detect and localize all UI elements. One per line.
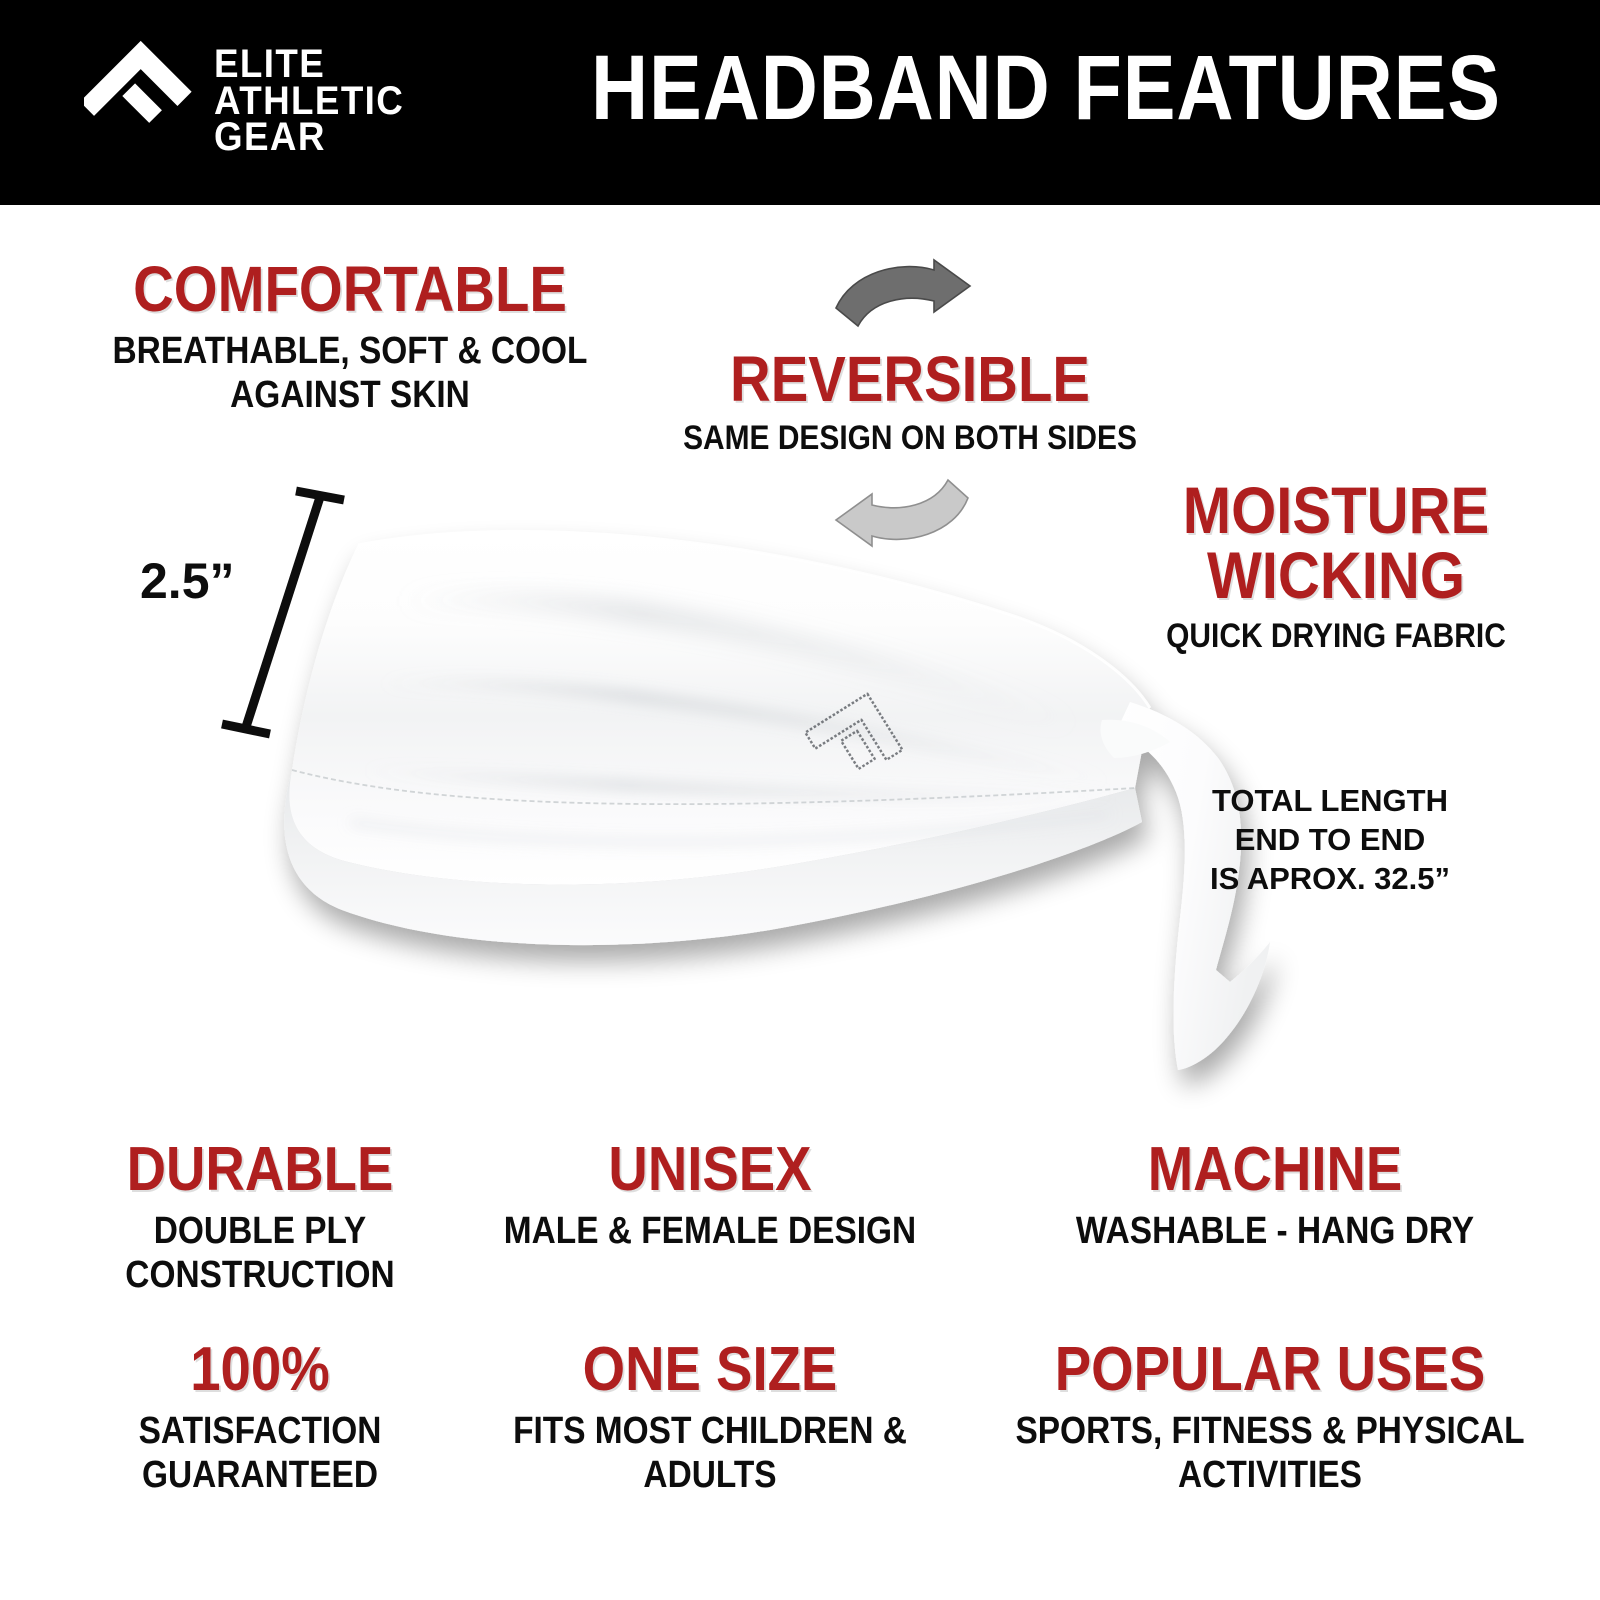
total-length-line-1: TOTAL LENGTH [1185, 782, 1475, 821]
feature-popular-sub-line-2: ACTIVITIES [997, 1453, 1543, 1497]
feature-satisfaction-heading: 100% [66, 1340, 453, 1401]
elite-athletic-gear-diamond-e-logo-icon [84, 36, 196, 166]
feature-satisfaction-sub-line-2: GUARANTEED [66, 1453, 453, 1497]
feature-popular-heading: POPULAR USES [997, 1340, 1543, 1401]
brand-wordmark: ELITE ATHLETIC GEAR [214, 46, 421, 156]
feature-durable-sub-line-1: DOUBLE PLY [66, 1209, 453, 1253]
feature-machine-washable: MACHINE WASHABLE - HANG DRY [980, 1140, 1570, 1253]
feature-comfortable-heading: COMFORTABLE [77, 258, 623, 321]
brand-logo: ELITE ATHLETIC GEAR [84, 36, 421, 166]
feature-machine-subtitle: WASHABLE - HANG DRY [1015, 1209, 1534, 1253]
feature-unisex-sub-line-1: MALE & FEMALE DESIGN [490, 1209, 930, 1253]
feature-satisfaction-subtitle: SATISFACTION GUARANTEED [66, 1409, 453, 1497]
brand-line-2: ATHLETIC [214, 83, 404, 120]
feature-comfortable-sub-line-2: AGAINST SKIN [77, 373, 623, 417]
total-length-line-3: IS APROX. 32.5” [1185, 860, 1475, 899]
feature-durable-sub-line-2: CONSTRUCTION [66, 1253, 453, 1297]
width-dimension-label: 2.5” [140, 552, 235, 610]
feature-unisex-subtitle: MALE & FEMALE DESIGN [490, 1209, 930, 1253]
dimension-line-icon [218, 478, 348, 748]
feature-durable-heading: DURABLE [66, 1140, 453, 1201]
feature-popular-sub-line-1: SPORTS, FITNESS & PHYSICAL [997, 1409, 1543, 1453]
feature-reversible: REVERSIBLE SAME DESIGN ON BOTH SIDES [600, 348, 1220, 458]
infographic-canvas: ELITE ATHLETIC GEAR HEADBAND FEATURES CO… [0, 0, 1600, 1600]
feature-machine-sub-line-1: WASHABLE - HANG DRY [1015, 1209, 1534, 1253]
brand-line-1: ELITE [214, 46, 404, 83]
brand-line-3: GEAR [214, 119, 404, 156]
feature-comfortable-sub-line-1: BREATHABLE, SOFT & COOL [77, 329, 623, 373]
total-length-note: TOTAL LENGTH END TO END IS APROX. 32.5” [1185, 782, 1475, 898]
feature-unisex: UNISEX MALE & FEMALE DESIGN [460, 1140, 960, 1253]
feature-onesize-sub-line-2: ADULTS [490, 1453, 930, 1497]
feature-durable-subtitle: DOUBLE PLY CONSTRUCTION [66, 1209, 453, 1297]
total-length-line-2: END TO END [1185, 821, 1475, 860]
header-bar: ELITE ATHLETIC GEAR HEADBAND FEATURES [0, 0, 1600, 205]
white-tie-back-headband-image [230, 470, 1310, 1110]
feature-popular-subtitle: SPORTS, FITNESS & PHYSICAL ACTIVITIES [997, 1409, 1543, 1497]
feature-satisfaction: 100% SATISFACTION GUARANTEED [40, 1340, 480, 1497]
feature-onesize-heading: ONE SIZE [490, 1340, 930, 1401]
feature-comfortable-subtitle: BREATHABLE, SOFT & COOL AGAINST SKIN [77, 329, 623, 417]
feature-satisfaction-sub-line-1: SATISFACTION [66, 1409, 453, 1453]
feature-machine-heading: MACHINE [1015, 1140, 1534, 1201]
feature-reversible-sub-line-1: SAME DESIGN ON BOTH SIDES [637, 419, 1183, 458]
feature-unisex-heading: UNISEX [490, 1140, 930, 1201]
feature-reversible-subtitle: SAME DESIGN ON BOTH SIDES [637, 419, 1183, 458]
feature-popular-uses: POPULAR USES SPORTS, FITNESS & PHYSICAL … [960, 1340, 1580, 1497]
feature-one-size: ONE SIZE FITS MOST CHILDREN & ADULTS [460, 1340, 960, 1497]
feature-onesize-subtitle: FITS MOST CHILDREN & ADULTS [490, 1409, 930, 1497]
feature-durable: DURABLE DOUBLE PLY CONSTRUCTION [40, 1140, 480, 1297]
feature-reversible-heading: REVERSIBLE [637, 348, 1183, 411]
curved-arrow-right-icon [828, 256, 976, 336]
feature-comfortable: COMFORTABLE BREATHABLE, SOFT & COOL AGAI… [40, 258, 660, 417]
feature-onesize-sub-line-1: FITS MOST CHILDREN & [490, 1409, 930, 1453]
page-title: HEADBAND FEATURES [590, 38, 1502, 139]
